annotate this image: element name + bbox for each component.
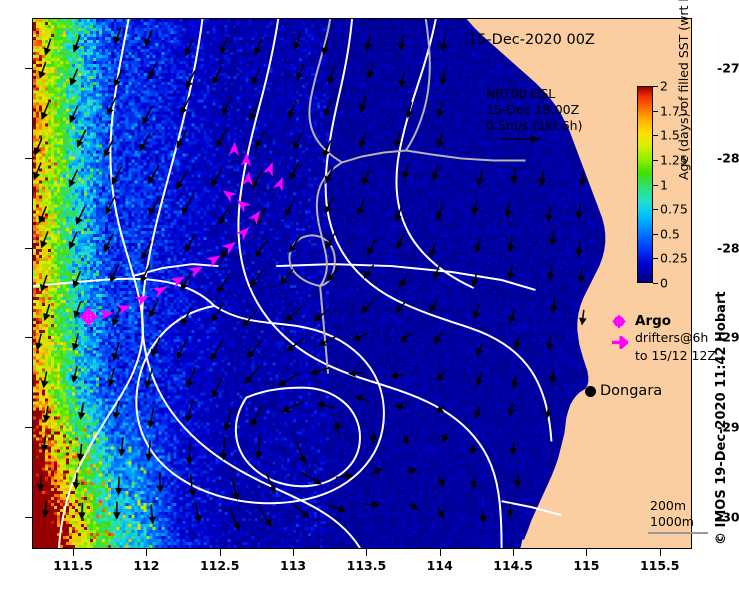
y-tick <box>25 68 32 69</box>
velocity-arrow <box>41 275 47 290</box>
bathymetry-200m-contours <box>289 19 525 374</box>
colorbar-tick-label: 2 <box>660 79 668 94</box>
model-annotation: NRT00 GSL 15-Dec 18:00Z 0.5m/s (1kt 6h) <box>486 86 582 134</box>
velocity-arrow <box>39 62 45 77</box>
velocity-arrow <box>109 368 115 385</box>
velocity-arrow <box>471 477 476 488</box>
velocity-arrow <box>69 170 77 186</box>
velocity-arrow <box>547 336 552 350</box>
model-vector-scale: 0.5m/s (1kt 6h) <box>486 118 582 134</box>
velocity-arrow <box>407 468 415 473</box>
velocity-arrow <box>187 367 196 387</box>
velocity-arrow <box>69 232 76 248</box>
velocity-arrow <box>73 334 79 350</box>
velocity-arrow <box>437 205 442 219</box>
velocity-arrow <box>392 373 404 378</box>
overlay-vectors <box>33 19 691 548</box>
x-tick-label: 112.5 <box>200 558 240 573</box>
drifter-arrow <box>273 177 283 192</box>
y-tick-label: -27.5 <box>717 61 739 76</box>
velocity-arrow <box>219 206 229 223</box>
y-tick <box>25 158 32 159</box>
map-title: 15-Dec-2020 00Z <box>468 32 595 48</box>
x-tick-label: 115.5 <box>640 558 680 573</box>
bathymetry-key-line <box>648 532 708 534</box>
velocity-arrow <box>119 437 124 455</box>
bathy-label-1000m: 1000m <box>650 514 694 530</box>
x-tick-label: 114.5 <box>493 558 533 573</box>
drifter-arrow <box>152 287 167 298</box>
velocity-arrow <box>253 170 262 187</box>
argo-float-marker-map <box>80 308 98 326</box>
velocity-arrow <box>74 271 81 287</box>
velocity-arrow <box>181 272 191 289</box>
velocity-arrow <box>363 169 369 184</box>
velocity-arrow <box>404 436 409 444</box>
velocity-arrow <box>145 29 152 45</box>
velocity-arrow <box>41 231 48 247</box>
velocity-arrow <box>577 241 582 255</box>
velocity-arrow <box>408 504 417 509</box>
velocity-arrow <box>509 309 514 322</box>
velocity-arrow <box>475 238 480 252</box>
velocity-arrow <box>42 436 47 451</box>
velocity-arrow <box>149 62 157 78</box>
x-tick-label: 111.5 <box>53 558 93 573</box>
y-tick <box>25 248 32 249</box>
velocity-arrow <box>45 39 51 54</box>
velocity-arrow <box>291 163 299 179</box>
velocity-arrow <box>514 335 519 348</box>
velocity-arrow <box>108 97 116 114</box>
colorbar-gradient <box>637 86 653 283</box>
velocity-arrow <box>211 341 222 360</box>
x-tick <box>293 549 294 556</box>
velocity-arrow <box>43 501 48 516</box>
velocity-arrow <box>213 67 221 83</box>
velocity-arrow <box>478 170 483 184</box>
drifter-arrow <box>134 296 149 307</box>
velocity-arrow <box>255 38 262 54</box>
velocity-arrow <box>335 422 340 435</box>
velocity-arrow <box>430 300 437 312</box>
velocity-arrow <box>248 341 263 357</box>
velocity-arrow <box>354 333 368 340</box>
velocity-arrow <box>437 102 442 116</box>
velocity-arrow <box>289 101 296 117</box>
velocity-arrow <box>78 130 86 146</box>
velocity-arrow <box>42 103 49 119</box>
x-tick <box>73 549 74 556</box>
map-figure: 111.5112112.5113113.5114114.5115115.5 -2… <box>0 0 739 592</box>
velocity-arrow <box>430 242 435 256</box>
velocity-arrow <box>443 434 448 442</box>
velocity-arrow <box>508 503 513 515</box>
x-tick-label: 113 <box>280 558 306 573</box>
velocity-arrow <box>230 509 239 529</box>
velocity-arrow <box>579 268 584 282</box>
colorbar-tick <box>653 258 658 259</box>
velocity-arrow <box>505 202 510 216</box>
velocity-arrow <box>252 406 262 426</box>
velocity-arrow <box>150 197 160 214</box>
velocity-arrow <box>290 236 300 251</box>
velocity-arrow <box>395 132 400 147</box>
colorbar-tick <box>653 209 658 210</box>
colorbar-tick <box>653 111 658 112</box>
velocity-arrow <box>178 339 187 358</box>
velocity-arrow <box>400 72 405 87</box>
colorbar-title: Age (days) of filled SST (wrt latest) <box>676 0 691 180</box>
colorbar-tick <box>653 234 658 235</box>
drifter-arrow <box>99 310 113 320</box>
velocity-arrow <box>470 443 475 453</box>
velocity-arrow <box>149 165 159 182</box>
velocity-arrow <box>294 133 302 149</box>
velocity-arrow <box>397 234 403 248</box>
velocity-arrow <box>186 234 196 251</box>
velocity-arrow <box>143 106 152 123</box>
x-tick <box>146 549 147 556</box>
velocity-arrow <box>251 270 263 286</box>
velocity-arrow <box>361 302 372 312</box>
x-tick <box>220 549 221 556</box>
velocity-arrow <box>551 298 556 312</box>
velocity-arrow <box>44 406 49 421</box>
velocity-arrow <box>580 171 585 185</box>
velocity-arrow <box>74 301 80 317</box>
y-tick <box>25 337 32 338</box>
velocity-arrow <box>512 375 517 388</box>
velocity-arrow <box>481 511 486 523</box>
drifter-arrow <box>223 190 237 202</box>
velocity-arrow <box>113 343 119 360</box>
y-tick <box>25 517 32 518</box>
velocity-arrow <box>220 37 227 53</box>
velocity-arrow <box>286 199 295 215</box>
velocity-arrow <box>318 403 335 408</box>
velocity-arrow <box>79 503 84 518</box>
velocity-arrow <box>148 407 153 426</box>
velocity-arrow <box>223 98 232 115</box>
copyright-notice: © IMOS 19-Dec-2020 11:42 Hobart <box>714 291 729 545</box>
velocity-arrow <box>401 333 411 341</box>
velocity-arrow <box>181 97 190 114</box>
x-tick <box>513 549 514 556</box>
velocity-arrow <box>279 374 297 386</box>
velocity-arrow <box>36 334 41 349</box>
velocity-arrow <box>550 369 555 382</box>
colorbar-tick <box>653 86 658 87</box>
velocity-arrow <box>42 372 47 387</box>
velocity-arrow <box>437 132 442 146</box>
velocity-arrow <box>511 442 516 454</box>
x-tick-label: 115 <box>573 558 599 573</box>
velocity-arrow <box>212 168 222 185</box>
velocity-arrow <box>187 442 192 464</box>
colorbar-tick-label: 0.75 <box>660 202 688 217</box>
velocity-arrow <box>577 204 582 218</box>
velocity-arrow <box>38 476 43 491</box>
velocity-arrow <box>508 265 513 279</box>
velocity-arrow <box>302 473 321 484</box>
velocity-arrow <box>217 129 226 146</box>
velocity-arrow <box>224 409 231 430</box>
velocity-arrow <box>114 501 119 518</box>
velocity-arrow <box>253 68 260 84</box>
drifter-track <box>99 142 283 321</box>
velocity-arrow <box>256 436 261 458</box>
city-label-dongara: Dongara <box>600 383 662 399</box>
velocity-arrow <box>281 269 293 284</box>
colorbar-tick <box>653 185 658 186</box>
colorbar-tick <box>653 135 658 136</box>
velocity-arrow <box>70 69 77 85</box>
legend-label-drifters-2: to 15/12 12Z <box>635 348 716 363</box>
velocity-arrow <box>370 469 381 475</box>
velocity-arrow <box>34 163 41 179</box>
legend: Argo drifters@6h to 15/12 12Z <box>607 313 727 365</box>
velocity-arrow <box>294 34 300 49</box>
velocity-arrow <box>441 70 446 84</box>
velocity-arrow <box>368 62 373 77</box>
legend-row-drifters: drifters@6h <box>607 330 727 348</box>
velocity-scale-arrow <box>500 133 542 145</box>
velocity-arrow <box>150 299 158 316</box>
colorbar-tick <box>653 160 658 161</box>
velocity-arrow <box>104 139 113 156</box>
velocity-arrow <box>74 36 80 51</box>
velocity-arrow <box>116 477 121 494</box>
velocity-arrow <box>438 508 443 517</box>
velocity-arrow <box>246 366 260 383</box>
colorbar-tick-label: 0 <box>660 276 668 291</box>
y-tick-label: -28.5 <box>717 240 739 255</box>
velocity-arrow <box>106 196 115 213</box>
velocity-arrow <box>477 343 482 355</box>
velocity-arrow <box>140 133 150 150</box>
velocity-arrow <box>356 396 369 401</box>
model-time: 15-Dec 18:00Z <box>486 102 582 118</box>
velocity-arrow <box>297 64 304 80</box>
argo-float-marker <box>610 314 628 329</box>
velocity-arrow <box>396 405 406 410</box>
drifter-arrow <box>229 142 240 156</box>
drifter-arrow <box>188 267 203 278</box>
velocity-arrow <box>511 168 516 182</box>
x-tick <box>440 549 441 556</box>
velocity-arrow <box>259 507 271 526</box>
velocity-arrow <box>515 474 520 486</box>
y-tick-label: -28 <box>717 150 739 165</box>
velocity-arrow <box>293 504 309 517</box>
velocity-arrow <box>360 132 366 147</box>
velocity-arrow <box>70 105 78 121</box>
velocity-arrow <box>400 274 407 286</box>
velocity-arrow <box>328 505 344 511</box>
velocity-arrow <box>474 305 479 318</box>
velocity-arrow <box>232 478 239 499</box>
velocity-arrow <box>112 167 121 184</box>
drifter-arrow <box>263 162 273 177</box>
city-marker-dongara <box>585 386 596 397</box>
velocity-arrow <box>187 71 195 87</box>
velocity-arrow <box>256 131 265 148</box>
velocity-arrow <box>540 170 545 184</box>
velocity-arrow <box>371 434 376 445</box>
bathymetry-key: 200m 1000m <box>650 498 694 530</box>
velocity-arrow <box>39 206 46 222</box>
velocity-arrow <box>35 138 42 154</box>
velocity-arrow <box>325 100 332 116</box>
velocity-arrow <box>320 337 336 345</box>
velocity-arrow <box>72 366 77 382</box>
velocity-arrow <box>77 207 85 223</box>
x-tick <box>660 549 661 556</box>
velocity-arrow <box>328 68 334 83</box>
velocity-arrow <box>547 207 552 221</box>
velocity-arrow <box>475 407 480 417</box>
velocity-arrow <box>283 401 303 411</box>
velocity-arrow <box>509 403 514 415</box>
map-plot-area[interactable] <box>32 18 692 549</box>
legend-label-argo: Argo <box>635 313 671 329</box>
bathymetry-1000m-contours <box>33 19 561 548</box>
velocity-arrow <box>244 310 257 326</box>
velocity-arrow <box>183 196 193 213</box>
colorbar-tick-label: 1 <box>660 177 668 192</box>
velocity-arrow <box>113 308 120 325</box>
legend-row-argo: Argo <box>607 313 727 330</box>
velocity-arrow <box>580 310 585 324</box>
velocity-arrow <box>213 377 223 397</box>
velocity-arrow <box>508 237 513 251</box>
velocity-arrow <box>548 265 553 279</box>
colorbar-tick <box>653 283 658 284</box>
velocity-arrow <box>177 171 187 188</box>
velocity-arrow <box>146 369 153 387</box>
velocity-arrow <box>286 308 300 321</box>
velocity-arrow <box>399 34 404 49</box>
velocity-arrow <box>44 304 50 319</box>
colorbar-tick-label: 0.25 <box>660 251 688 266</box>
velocity-arrow <box>358 199 365 214</box>
velocity-arrow <box>365 35 370 50</box>
velocity-arrow <box>78 444 83 460</box>
velocity-arrow <box>473 200 478 214</box>
velocity-arrow <box>365 502 378 507</box>
velocity-arrow <box>256 241 267 257</box>
velocity-arrow <box>186 400 193 421</box>
velocity-arrow <box>221 437 226 459</box>
velocity-arrow <box>477 373 482 384</box>
velocity-arrow <box>114 27 121 43</box>
velocity-arrow <box>439 477 444 485</box>
velocity-arrow <box>105 234 113 251</box>
velocity-arrow <box>368 240 376 254</box>
velocity-arrow <box>433 165 438 179</box>
velocity-arrow <box>360 96 366 111</box>
y-tick <box>25 427 32 428</box>
velocity-arrow <box>150 505 155 523</box>
bathy-label-200m: 200m <box>650 498 694 514</box>
velocity-arrow <box>441 36 446 50</box>
velocity-arrow <box>350 371 365 376</box>
velocity-arrow <box>195 502 201 522</box>
legend-row-drifters-time: to 15/12 12Z <box>607 348 727 365</box>
model-name: NRT00 GSL <box>486 86 582 102</box>
velocity-arrow <box>365 265 374 278</box>
x-tick-label: 114 <box>427 558 453 573</box>
x-tick-label: 113.5 <box>347 558 387 573</box>
x-tick <box>586 549 587 556</box>
velocity-arrow <box>435 333 442 343</box>
velocity-arrow <box>218 275 229 292</box>
velocity-arrow <box>79 402 84 418</box>
velocity-arrow <box>158 472 163 491</box>
x-tick-label: 112 <box>133 558 159 573</box>
velocity-arrow <box>326 233 335 247</box>
legend-label-drifters-1: drifters@6h <box>635 330 708 345</box>
colorbar-tick-label: 0.5 <box>660 226 680 241</box>
velocity-arrow <box>550 230 555 244</box>
velocity-arrow <box>437 372 445 380</box>
x-tick <box>366 549 367 556</box>
velocity-arrow <box>186 39 193 55</box>
velocity-arrow <box>403 163 408 178</box>
velocity-arrow <box>296 442 305 462</box>
